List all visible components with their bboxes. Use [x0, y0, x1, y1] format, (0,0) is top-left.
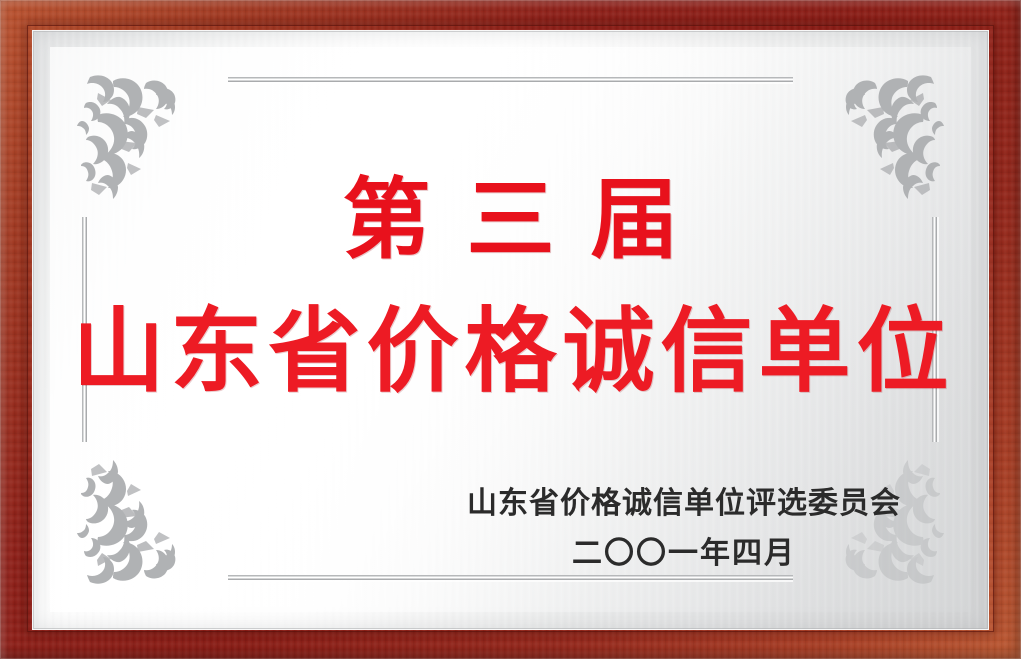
corner-ornament-top-left-icon: [68, 63, 204, 199]
corner-ornament-bottom-right-icon: [817, 460, 953, 596]
double-rule-left: [82, 217, 89, 442]
signature-date: 二〇〇一年四月: [467, 535, 901, 573]
award-plaque: 第三届 山东省价格诚信单位 山东省价格诚信单位评选委员会 二〇〇一年四月: [0, 0, 1021, 659]
plate-inner-field: 第三届 山东省价格诚信单位 山东省价格诚信单位评选委员会 二〇〇一年四月: [50, 47, 971, 612]
inscription-block: 第三届 山东省价格诚信单位 山东省价格诚信单位评选委员会 二〇〇一年四月: [50, 47, 971, 612]
award-title-main: 第三届: [50, 175, 971, 263]
double-rule-top: [228, 77, 793, 84]
double-rule-right: [932, 217, 939, 442]
signature-organization: 山东省价格诚信单位评选委员会: [467, 485, 901, 523]
double-rule-bottom: [228, 575, 793, 582]
corner-ornament-top-right-icon: [817, 63, 953, 199]
corner-ornament-bottom-left-icon: [68, 460, 204, 596]
signature-block: 山东省价格诚信单位评选委员会 二〇〇一年四月: [467, 485, 901, 574]
metal-plate: 第三届 山东省价格诚信单位 山东省价格诚信单位评选委员会 二〇〇一年四月: [32, 30, 989, 630]
award-title-sub: 山东省价格诚信单位: [50, 305, 971, 397]
